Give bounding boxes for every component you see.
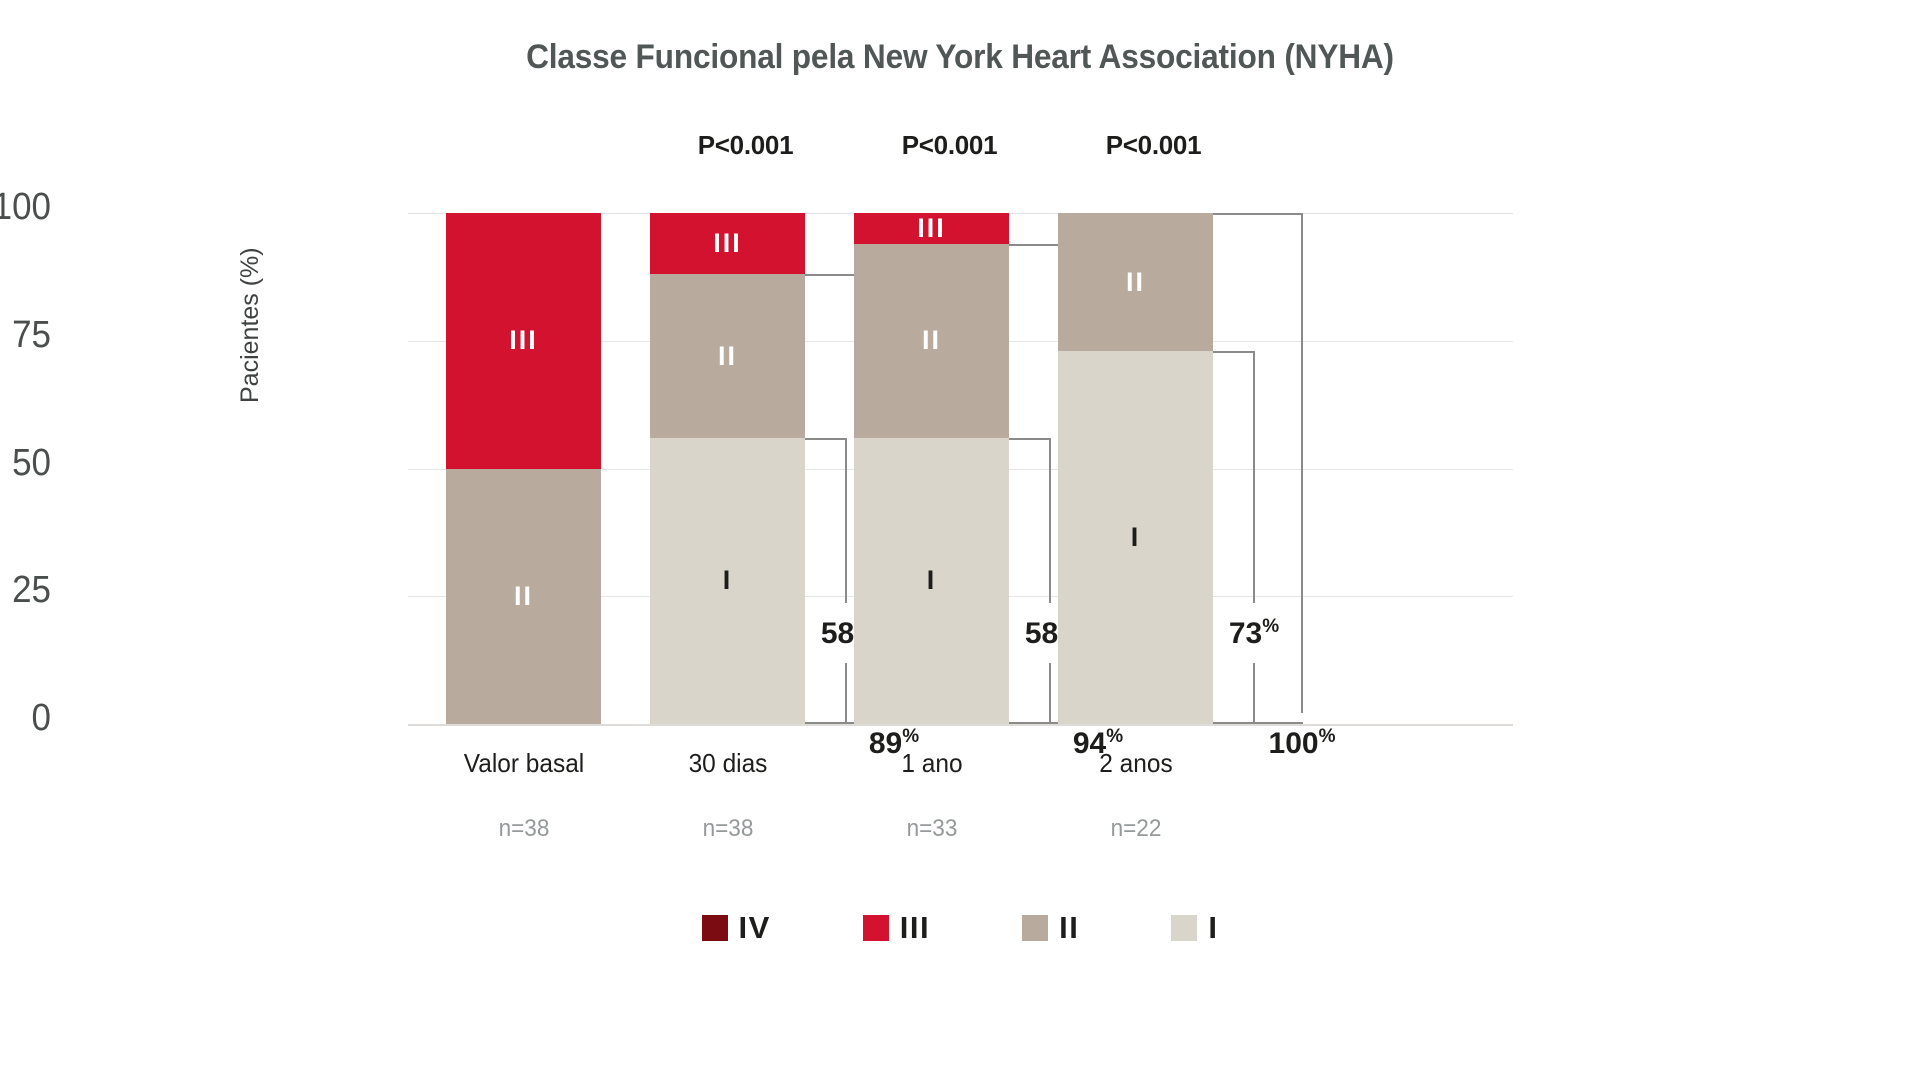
bracket-bottom-rule — [1213, 722, 1303, 724]
legend-swatch-icon — [702, 915, 728, 941]
legend-label: I — [1208, 912, 1218, 943]
x-axis-label: 2 anos — [1099, 748, 1172, 779]
legend-item-ii[interactable]: II — [1022, 912, 1079, 943]
bar-segment-label: II — [922, 327, 941, 354]
bar-group[interactable]: III — [1058, 213, 1213, 724]
sample-size-label: n=22 — [1110, 815, 1161, 843]
bar-segment-i[interactable]: I — [650, 438, 805, 724]
x-axis-label: Valor basal — [463, 748, 583, 779]
percent-bracket-outer: 100% — [1213, 213, 1303, 724]
chart-canvas: Classe Funcional pela New York Heart Ass… — [0, 0, 1920, 1092]
legend-swatch-icon — [1171, 915, 1197, 941]
x-axis-label: 30 dias — [688, 748, 767, 779]
p-value-label: P<0.001 — [1106, 130, 1202, 161]
y-axis-label: Pacientes (%) — [236, 247, 265, 403]
bar-segment-iii[interactable]: III — [446, 213, 601, 469]
bar-segment-label: III — [509, 327, 538, 354]
bar-segment-label: III — [713, 230, 742, 257]
bar-segment-ii[interactable]: II — [446, 469, 601, 725]
bar-segment-i[interactable]: I — [854, 438, 1009, 724]
legend-swatch-icon — [1022, 915, 1048, 941]
legend-item-iv[interactable]: IV — [702, 912, 771, 943]
bar-segment-i[interactable]: I — [1058, 351, 1213, 724]
legend-label: II — [1059, 912, 1079, 943]
gridline-0 — [408, 724, 1513, 726]
bar-segment-label: II — [1126, 269, 1145, 296]
bar-group[interactable]: IIIIII — [854, 213, 1009, 724]
bar-segment-ii[interactable]: II — [1058, 213, 1213, 351]
sample-size-label: n=38 — [498, 815, 549, 843]
bar-segment-label: III — [917, 215, 946, 242]
legend-item-i[interactable]: I — [1171, 912, 1218, 943]
p-value-label: P<0.001 — [902, 130, 998, 161]
bar-segment-label: II — [514, 583, 533, 610]
bar-segment-label: I — [1131, 524, 1141, 551]
chart-title: Classe Funcional pela New York Heart Ass… — [67, 38, 1853, 77]
legend-label: IV — [739, 912, 771, 943]
bar-segment-label: I — [927, 567, 937, 594]
bracket-percent-label: 100% — [1269, 727, 1336, 759]
bar-segment-label: I — [723, 567, 733, 594]
y-axis-tick-25: 25 — [0, 569, 51, 612]
y-axis-tick-50: 50 — [0, 442, 51, 485]
chart-legend: IVIIIIII — [0, 912, 1920, 943]
legend-swatch-icon — [863, 915, 889, 941]
legend-item-iii[interactable]: III — [863, 912, 930, 943]
legend-label: III — [900, 912, 930, 943]
y-axis-tick-100: 100 — [0, 186, 51, 229]
bar-segment-ii[interactable]: II — [854, 244, 1009, 438]
bar-group[interactable]: IIIII — [446, 213, 601, 724]
y-axis-tick-75: 75 — [0, 314, 51, 357]
x-axis-label: 1 ano — [901, 748, 962, 779]
bar-segment-iii[interactable]: III — [650, 213, 805, 274]
bracket-vertical-upper — [1301, 213, 1303, 713]
bar-segment-ii[interactable]: II — [650, 274, 805, 438]
sample-size-label: n=38 — [702, 815, 753, 843]
bracket-top-rule — [1213, 213, 1303, 215]
bar-group[interactable]: IIIIII — [650, 213, 805, 724]
plot-area: 1007550250Pacientes (%)IIIIIValor basaln… — [468, 213, 1513, 724]
bar-segment-label: II — [718, 343, 737, 370]
bar-segment-iii[interactable]: III — [854, 213, 1009, 244]
p-value-label: P<0.001 — [698, 130, 794, 161]
sample-size-label: n=33 — [906, 815, 957, 843]
y-axis-tick-0: 0 — [0, 697, 51, 740]
